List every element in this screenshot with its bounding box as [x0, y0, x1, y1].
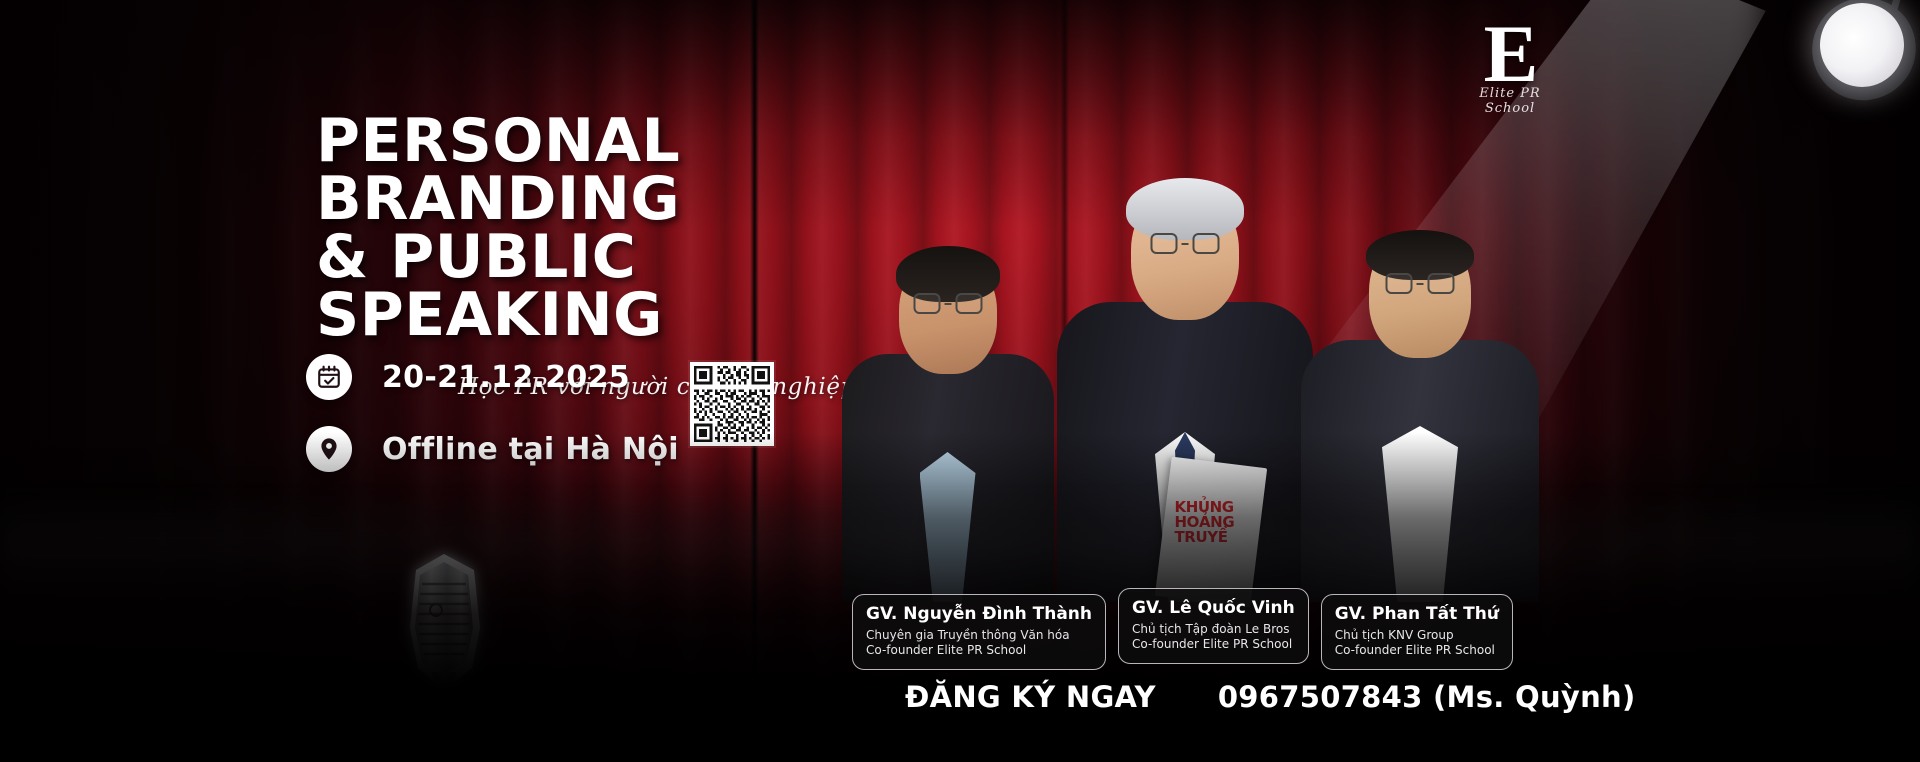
speaker-card-2: GV. Lê Quốc Vinh Chủ tịch Tập đoàn Le Br… — [1118, 588, 1309, 664]
speaker-card-3: GV. Phan Tất Thứ Chủ tịch KNV Group Co-f… — [1321, 594, 1513, 670]
date-row: 20-21.12.2025 — [306, 354, 679, 400]
speaker-name-cards: GV. Nguyễn Đình Thành Chuyên gia Truyền … — [852, 594, 1513, 670]
brand-logo: E Elite PR School — [1455, 14, 1565, 118]
headline-line-1: PERSONAL BRANDING — [316, 106, 680, 234]
event-banner: E Elite PR School PERSONAL BRANDING & PU… — [0, 0, 1920, 762]
call-to-action: ĐĂNG KÝ NGAY 0967507843 (Ms. Quỳnh) — [905, 680, 1636, 714]
speaker-3-glasses — [1386, 273, 1455, 294]
speaker-name: GV. Lê Quốc Vinh — [1132, 598, 1295, 619]
spotlight-fixture-icon — [1806, 0, 1920, 106]
speaker-name: GV. Nguyễn Đình Thành — [866, 604, 1092, 625]
logo-mark: E — [1455, 14, 1565, 94]
calendar-check-icon — [306, 354, 352, 400]
speaker-role-line-2: Co-founder Elite PR School — [1335, 643, 1499, 658]
speaker-card-1: GV. Nguyễn Đình Thành Chuyên gia Truyền … — [852, 594, 1106, 670]
speaker-role-line-2: Co-founder Elite PR School — [1132, 637, 1295, 652]
speaker-2-hair — [1126, 178, 1244, 240]
register-label[interactable]: ĐĂNG KÝ NGAY — [905, 680, 1156, 714]
speaker-1-glasses — [913, 293, 982, 314]
speaker-name: GV. Phan Tất Thứ — [1335, 604, 1499, 625]
contact-phone[interactable]: 0967507843 (Ms. Quỳnh) — [1218, 680, 1636, 714]
speaker-role-line-1: Chuyên gia Truyền thông Văn hóa — [866, 628, 1092, 643]
event-date: 20-21.12.2025 — [382, 360, 630, 395]
speaker-role-line-1: Chủ tịch KNV Group — [1335, 628, 1499, 643]
speaker-2-glasses — [1151, 233, 1220, 254]
speaker-role-line-2: Co-founder Elite PR School — [866, 643, 1092, 658]
speaker-role-line-1: Chủ tịch Tập đoàn Le Bros — [1132, 622, 1295, 637]
